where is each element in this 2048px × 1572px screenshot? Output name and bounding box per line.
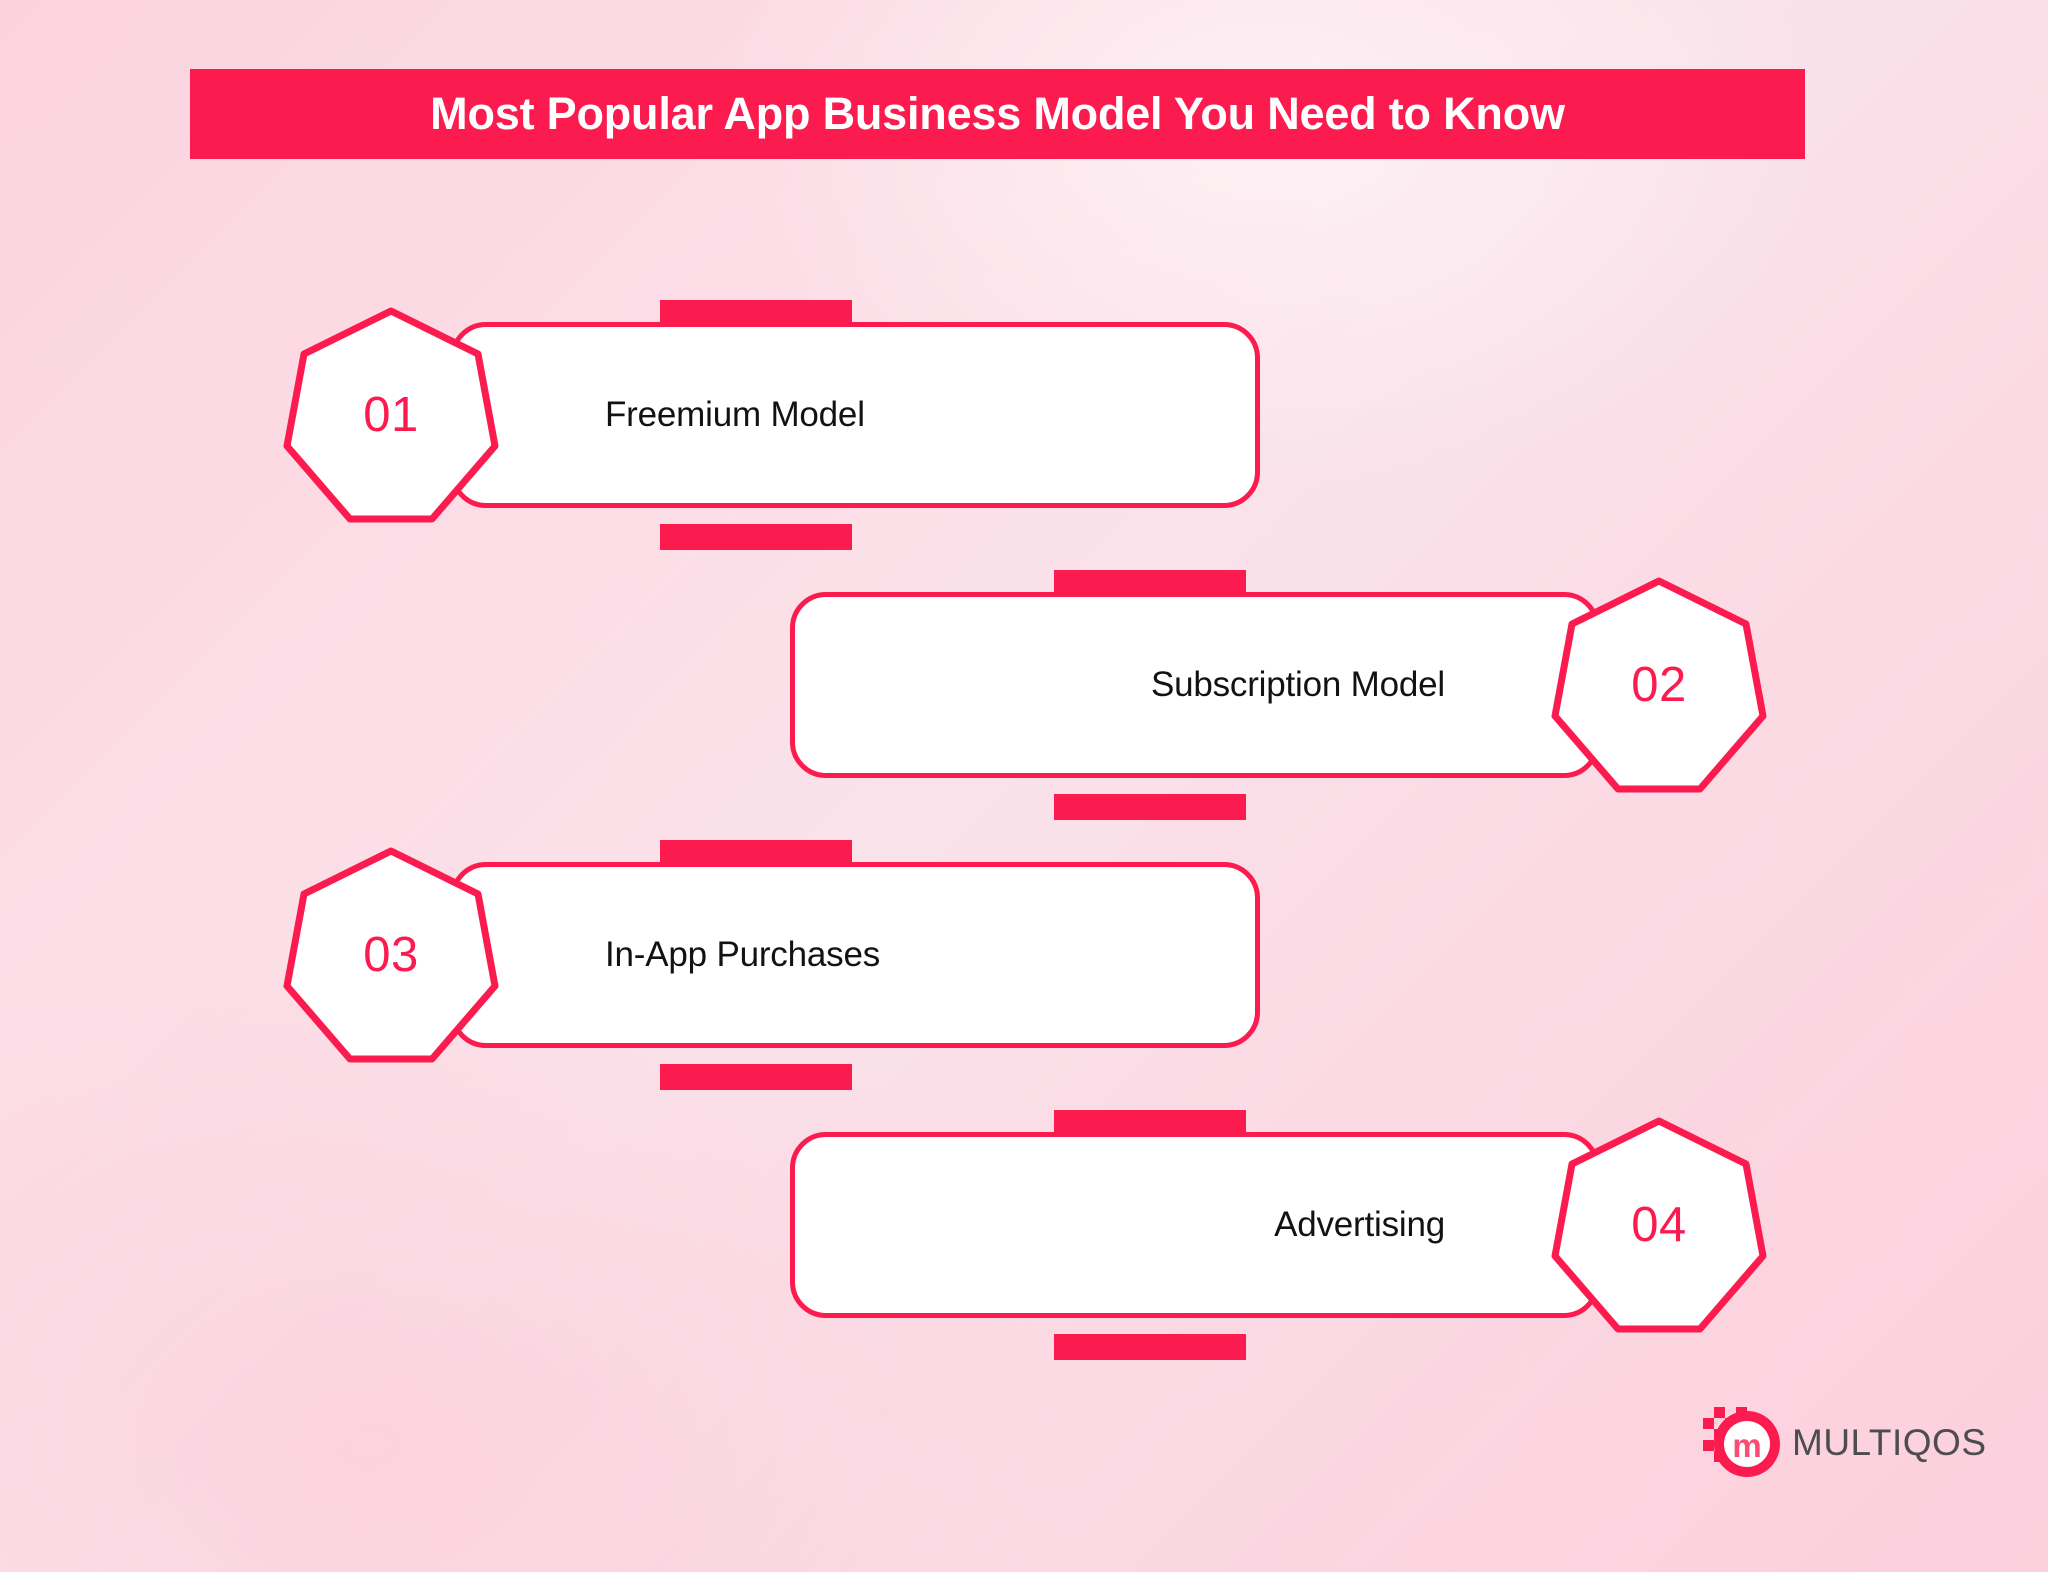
card-tab-bottom-01 bbox=[660, 524, 852, 550]
card-tab-bottom-02 bbox=[1054, 794, 1246, 820]
card-body-03: In-App Purchases bbox=[450, 862, 1260, 1048]
card-tab-bottom-04 bbox=[1054, 1334, 1246, 1360]
list-item-02[interactable]: Subscription Model 02 bbox=[790, 570, 1770, 820]
number-badge-02: 02 bbox=[1548, 574, 1770, 796]
number-badge-label-01: 01 bbox=[280, 304, 502, 526]
brand-logo[interactable]: m MULTIQOS bbox=[1700, 1398, 2010, 1488]
multiqos-mark-icon: m bbox=[1700, 1403, 1782, 1483]
card-label-04: Advertising bbox=[1274, 1205, 1445, 1245]
number-badge-label-02: 02 bbox=[1548, 574, 1770, 796]
card-body-04: Advertising bbox=[790, 1132, 1600, 1318]
number-badge-03: 03 bbox=[280, 844, 502, 1066]
list-item-03[interactable]: In-App Purchases 03 bbox=[280, 840, 1260, 1090]
infographic-canvas: Most Popular App Business Model You Need… bbox=[0, 0, 2048, 1572]
card-body-02: Subscription Model bbox=[790, 592, 1600, 778]
list-item-04[interactable]: Advertising 04 bbox=[790, 1110, 1770, 1360]
title-banner: Most Popular App Business Model You Need… bbox=[190, 69, 1805, 159]
number-badge-label-04: 04 bbox=[1548, 1114, 1770, 1336]
brand-wordmark: MULTIQOS bbox=[1792, 1422, 1987, 1464]
page-title: Most Popular App Business Model You Need… bbox=[430, 88, 1565, 140]
svg-text:m: m bbox=[1732, 1427, 1761, 1464]
card-label-03: In-App Purchases bbox=[605, 935, 880, 975]
list-item-01[interactable]: Freemium Model 01 bbox=[280, 300, 1260, 550]
card-label-01: Freemium Model bbox=[605, 395, 865, 435]
card-label-02: Subscription Model bbox=[1151, 665, 1445, 705]
card-body-01: Freemium Model bbox=[450, 322, 1260, 508]
card-tab-bottom-03 bbox=[660, 1064, 852, 1090]
number-badge-label-03: 03 bbox=[280, 844, 502, 1066]
number-badge-04: 04 bbox=[1548, 1114, 1770, 1336]
number-badge-01: 01 bbox=[280, 304, 502, 526]
